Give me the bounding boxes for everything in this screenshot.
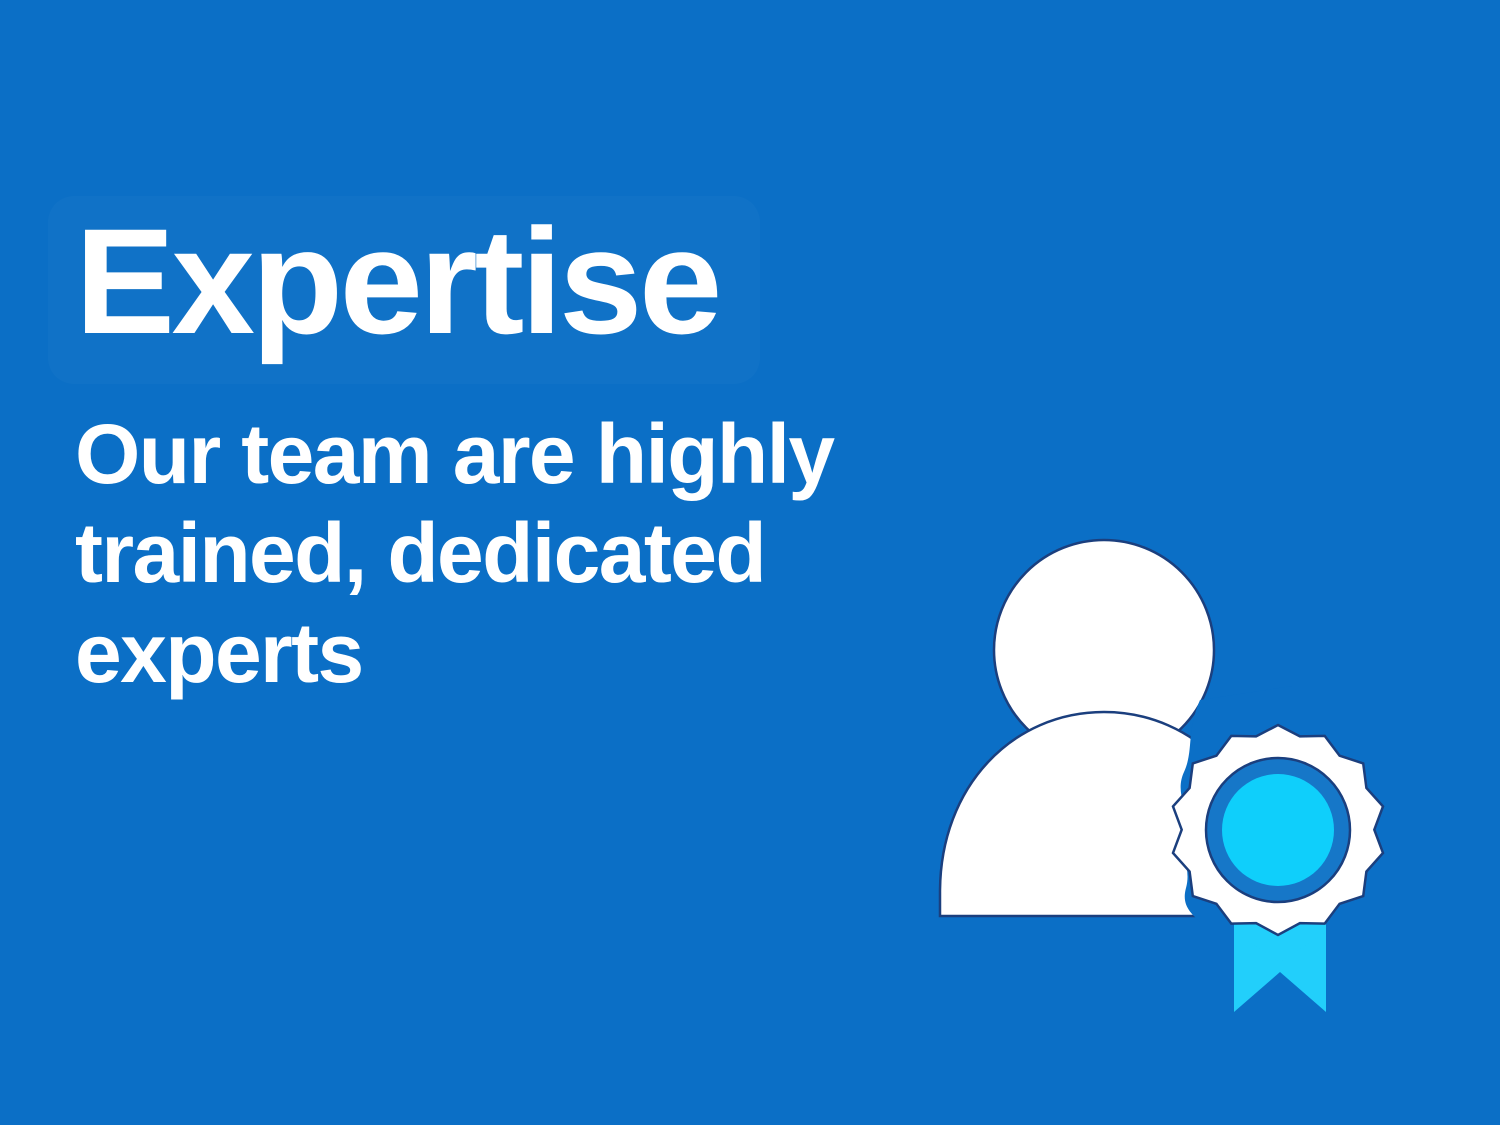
subtitle-text: Our team are highly trained, dedicated e… bbox=[75, 405, 905, 705]
text-content-block: Expertise Our team are highly trained, d… bbox=[75, 210, 955, 704]
certified-expert-icon bbox=[900, 500, 1420, 1060]
expertise-slide: Expertise Our team are highly trained, d… bbox=[0, 0, 1500, 1125]
page-title: Expertise bbox=[75, 210, 955, 353]
medal-center bbox=[1222, 774, 1334, 886]
